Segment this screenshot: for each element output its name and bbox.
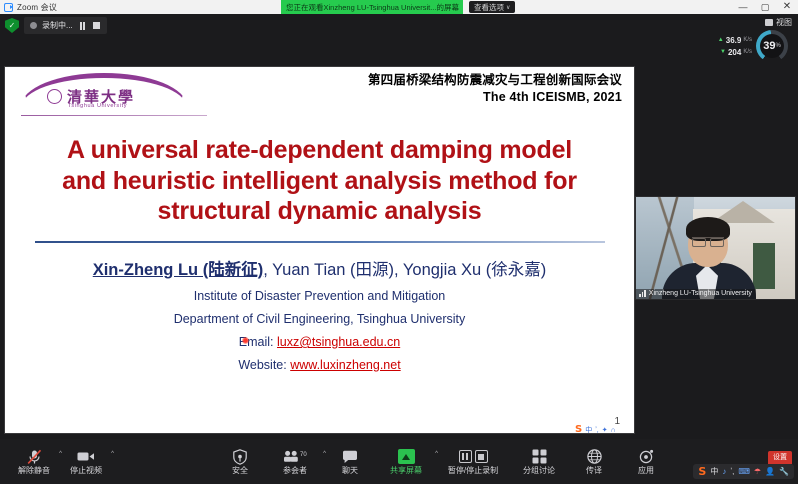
- screen-share-banner: 您正在观看Xinzheng LU-Tsinghua Universit...的屏…: [281, 0, 463, 14]
- network-rates: ▲ 36.9 K/s ▼ 204 K/s: [718, 36, 752, 57]
- slide-title-line-3: structural dynamic analysis: [19, 196, 620, 227]
- unmute-button[interactable]: 解除静音 ^: [8, 439, 60, 484]
- chat-bubble-icon: [342, 448, 358, 465]
- website-link[interactable]: www.luxinzheng.net: [290, 358, 400, 372]
- laser-pointer-dot: [242, 337, 249, 344]
- view-options-label: 查看选项: [474, 2, 504, 13]
- cam-person-glasses: [692, 237, 724, 245]
- view-button-label: 视图: [776, 17, 792, 28]
- slide-header: 清華大學 Tsinghua University 第四届桥梁结构防震减灾与工程创…: [5, 67, 634, 121]
- slide-title-line-2: and heuristic intelligent analysis metho…: [19, 166, 620, 197]
- interpretation-button-label: 传译: [586, 467, 602, 475]
- chat-button[interactable]: 聊天: [324, 439, 376, 484]
- video-camera-icon: [77, 448, 95, 465]
- security-button[interactable]: 安全: [214, 439, 266, 484]
- security-button-label: 安全: [232, 467, 248, 475]
- pause-stop-record-icon: [459, 448, 488, 465]
- logo-seal-icon: [47, 89, 62, 104]
- conference-heading: 第四届桥梁结构防震减灾与工程创新国际会议 The 4th ICEISMB, 20…: [368, 72, 622, 106]
- interpretation-globe-icon: [587, 448, 602, 465]
- view-options-button[interactable]: 查看选项 ∨: [469, 1, 515, 13]
- shared-screen-slide[interactable]: 清華大學 Tsinghua University 第四届桥梁结构防震减灾与工程创…: [5, 67, 634, 433]
- recording-status-label: 录制中...: [42, 20, 73, 31]
- slide-title-line-1: A universal rate-dependent damping model: [19, 135, 620, 166]
- ime-chinese-mode-icon[interactable]: 中: [710, 468, 718, 476]
- stop-video-button[interactable]: 停止视频 ^: [60, 439, 112, 484]
- upload-arrow-icon: ▲: [718, 37, 724, 43]
- screen-share-banner-text: 您正在观看Xinzheng LU-Tsinghua Universit...的屏…: [286, 2, 459, 13]
- close-button[interactable]: ✕: [776, 0, 798, 14]
- unmute-button-label: 解除静音: [18, 467, 50, 475]
- logo-english-name: Tsinghua University: [68, 103, 127, 109]
- tsinghua-logo: 清華大學 Tsinghua University: [21, 73, 191, 115]
- sogou-logo-icon: S: [698, 466, 706, 477]
- apps-button[interactable]: 应用: [620, 439, 672, 484]
- affiliation-line-2: Department of Civil Engineering, Tsinghu…: [5, 312, 634, 326]
- shield-check-glyph: ✓: [9, 22, 16, 30]
- sogou-ime-overlay[interactable]: S 中 ʼ, ✦ ∩: [573, 424, 618, 433]
- participants-button[interactable]: 703 参会者 ^: [266, 439, 324, 484]
- ime-soft-keyboard-icon[interactable]: ⌨: [738, 468, 750, 476]
- ime-skin-icon[interactable]: ☂: [754, 468, 761, 476]
- recording-status-pill: 录制中...: [24, 17, 107, 34]
- ime-toolbox-icon[interactable]: ∩: [611, 427, 616, 434]
- download-rate-unit: K/s: [743, 49, 752, 55]
- network-speed-widget: ▲ 36.9 K/s ▼ 204 K/s 39 %: [718, 30, 788, 62]
- breakout-rooms-icon: [532, 448, 547, 465]
- share-screen-button-label: 共享屏幕: [390, 467, 422, 475]
- upload-rate-unit: K/s: [743, 37, 752, 43]
- pause-stop-recording-button[interactable]: 暂停/停止录制: [436, 439, 510, 484]
- zoom-meeting-window: Zoom 会议 — ▢ ✕ 您正在观看Xinzheng LU-Tsinghua …: [0, 0, 798, 484]
- gauge-value: 39: [763, 40, 775, 52]
- ime-toolbox-icon[interactable]: 🔧: [779, 468, 789, 476]
- stop-recording-icon[interactable]: [475, 450, 488, 463]
- ime-settings-tab[interactable]: 设置: [768, 451, 792, 464]
- stop-icon[interactable]: [92, 21, 101, 30]
- chat-button-label: 聊天: [342, 467, 358, 475]
- apps-icon: [639, 448, 654, 465]
- grid-view-icon: [765, 19, 773, 26]
- toolbar-left-group: 解除静音 ^ 停止视频 ^: [8, 439, 112, 484]
- participants-button-label: 参会者: [283, 467, 307, 475]
- upload-rate-row: ▲ 36.9 K/s: [718, 36, 752, 45]
- logo-divider: [21, 115, 207, 116]
- ime-punctuation-icon[interactable]: ʼ,: [595, 427, 599, 434]
- breakout-rooms-button[interactable]: 分组讨论: [510, 439, 568, 484]
- ime-user-icon[interactable]: 👤: [765, 468, 775, 476]
- conference-title-cn: 第四届桥梁结构防震减灾与工程创新国际会议: [368, 72, 622, 89]
- ime-voice-input-icon[interactable]: ♪: [722, 468, 726, 476]
- ime-punctuation-icon[interactable]: ʼ,: [730, 468, 734, 476]
- email-line: Email: luxz@tsinghua.edu.cn: [5, 335, 634, 349]
- video-options-caret-icon[interactable]: ^: [111, 451, 114, 457]
- presenter-name: Xinzheng LU-Tsinghua University: [649, 290, 752, 297]
- chevron-down-icon: ∨: [506, 4, 510, 11]
- website-line: Website: www.luxinzheng.net: [5, 358, 634, 372]
- pause-recording-icon[interactable]: [459, 450, 472, 463]
- shield-check-icon: ✓: [5, 18, 19, 33]
- conference-title-en: The 4th ICEISMB, 2021: [368, 89, 622, 106]
- presenter-video-thumbnail[interactable]: Xinzheng LU-Tsinghua University: [635, 196, 796, 300]
- authors-line: Xin-Zheng Lu (陆新征), Yuan Tian (田源), Yong…: [5, 256, 634, 280]
- affiliation-line-1: Institute of Disaster Prevention and Mit…: [5, 289, 634, 303]
- ime-chinese-mode-icon[interactable]: 中: [585, 427, 592, 434]
- breakout-rooms-button-label: 分组讨论: [523, 467, 555, 475]
- toolbar-center-group: 安全 703 参会者 ^: [214, 439, 672, 484]
- presenting-author: Xin-Zheng Lu (陆新征): [93, 261, 263, 279]
- participants-icon: 703: [283, 448, 307, 465]
- microphone-muted-icon: [27, 448, 42, 465]
- gauge-unit: %: [775, 43, 780, 49]
- pause-icon[interactable]: [78, 21, 87, 30]
- title-divider: [35, 241, 605, 244]
- share-screen-icon: [398, 448, 415, 465]
- window-title: Zoom 会议: [17, 2, 57, 13]
- download-rate-value: 204: [728, 48, 741, 57]
- meeting-toolbar: 解除静音 ^ 停止视频 ^: [0, 439, 798, 484]
- cpu-usage-gauge: 39 %: [756, 30, 788, 62]
- svg-text:703: 703: [300, 452, 307, 458]
- slide-page-number: 1: [614, 416, 620, 427]
- presenter-name-badge: Xinzheng LU-Tsinghua University: [636, 289, 756, 299]
- interpretation-button[interactable]: 传译: [568, 439, 620, 484]
- window-controls: — ▢ ✕: [732, 0, 798, 14]
- recording-dot-icon: [30, 22, 37, 29]
- view-button[interactable]: 视图: [765, 17, 792, 28]
- apps-button-label: 应用: [638, 467, 654, 475]
- pause-stop-recording-label: 暂停/停止录制: [448, 467, 498, 475]
- minimize-button[interactable]: —: [732, 0, 754, 14]
- sogou-logo-icon: S: [575, 425, 582, 433]
- slide-title: A universal rate-dependent damping model…: [19, 135, 620, 227]
- signal-bars-icon: [639, 290, 646, 297]
- upload-rate-value: 36.9: [726, 36, 742, 45]
- coauthors: , Yuan Tian (田源), Yongjia Xu (徐永嘉): [263, 261, 546, 279]
- stop-video-button-label: 停止视频: [70, 467, 102, 475]
- website-label: Website:: [238, 358, 290, 372]
- download-arrow-icon: ▼: [720, 49, 726, 55]
- ime-soft-keyboard-icon[interactable]: ✦: [602, 427, 608, 434]
- sogou-ime-taskbar[interactable]: S 中 ♪ ʼ, ⌨ ☂ 👤 🔧: [693, 464, 794, 479]
- email-link[interactable]: luxz@tsinghua.edu.cn: [277, 335, 400, 349]
- share-screen-button[interactable]: 共享屏幕 ^: [376, 439, 436, 484]
- shield-security-icon: [233, 448, 247, 465]
- maximize-button[interactable]: ▢: [754, 0, 776, 14]
- download-rate-row: ▼ 204 K/s: [720, 48, 752, 57]
- zoom-camera-icon: [4, 3, 13, 12]
